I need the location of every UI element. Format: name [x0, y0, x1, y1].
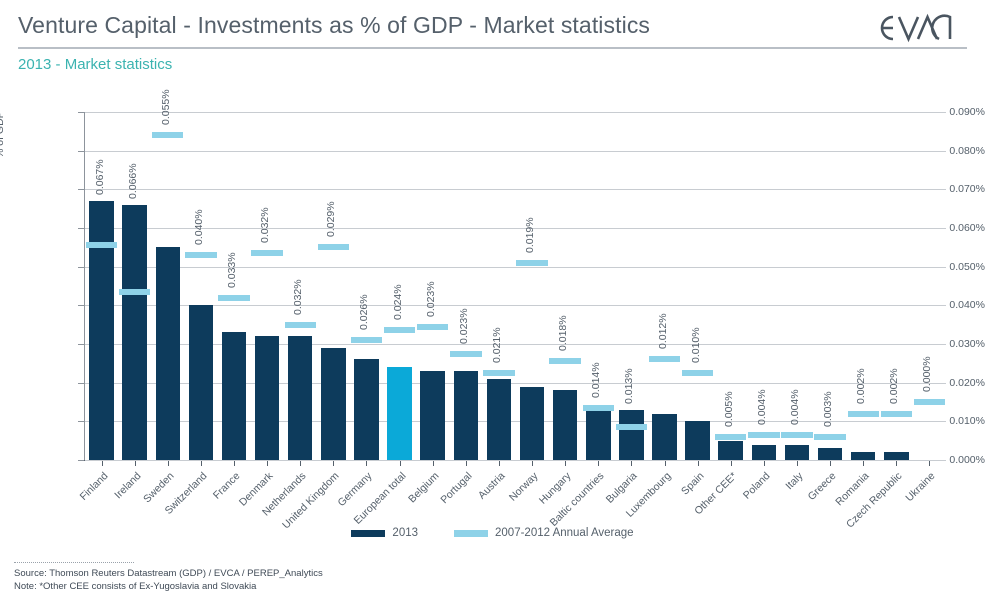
- bar-group[interactable]: 0.004%: [785, 112, 810, 460]
- page-subtitle: 2013 - Market statistics: [18, 56, 172, 73]
- bar-2013[interactable]: [884, 452, 909, 460]
- bar-value-label: 0.000%: [921, 356, 933, 392]
- bar-value-label: 0.010%: [690, 327, 702, 363]
- y-axis-title: % of GDP: [0, 111, 6, 158]
- y-axis-tick-mark: [78, 151, 84, 152]
- bar-2013[interactable]: [354, 359, 379, 460]
- legend-label: 2013: [392, 527, 418, 539]
- average-marker: [881, 411, 912, 417]
- legend-label: 2007-2012 Annual Average: [495, 527, 634, 539]
- average-marker: [549, 358, 580, 364]
- bar-value-label: 0.004%: [789, 389, 801, 425]
- x-axis-tick-mark: [698, 461, 699, 466]
- bar-value-label: 0.012%: [657, 314, 669, 350]
- y-axis-tick-mark: [78, 228, 84, 229]
- x-axis-tick-mark: [466, 461, 467, 466]
- x-axis-tick-mark: [300, 461, 301, 466]
- bar-group[interactable]: 0.023%: [420, 112, 445, 460]
- legend-swatch: [454, 530, 488, 537]
- bar-2013[interactable]: [321, 348, 346, 460]
- bar-2013[interactable]: [586, 406, 611, 460]
- bar-2013[interactable]: [752, 445, 777, 460]
- y-axis-tick-mark: [78, 460, 84, 461]
- bar-value-label: 0.067%: [94, 159, 106, 195]
- bar-value-label: 0.002%: [855, 368, 867, 404]
- x-axis-tick-mark: [896, 461, 897, 466]
- bar-group[interactable]: 0.029%: [321, 112, 346, 460]
- x-axis-tick-mark: [764, 461, 765, 466]
- x-axis-tick-mark: [333, 461, 334, 466]
- bar-value-label: 0.014%: [590, 362, 602, 398]
- x-axis-tick-mark: [400, 461, 401, 466]
- bar-value-label: 0.003%: [822, 391, 834, 427]
- bar-group[interactable]: 0.033%: [222, 112, 247, 460]
- chart-area: % of GDP 0.090%0.080%0.070%0.060%0.050%0…: [0, 90, 985, 556]
- bar-group[interactable]: 0.032%: [288, 112, 313, 460]
- bar-group[interactable]: 0.003%: [818, 112, 843, 460]
- bar-group[interactable]: 0.032%: [255, 112, 280, 460]
- average-marker: [450, 351, 481, 357]
- y-axis-tick-mark: [78, 189, 84, 190]
- bar-value-label: 0.024%: [392, 285, 404, 321]
- x-axis-tick-mark: [201, 461, 202, 466]
- y-axis-tick-mark: [78, 305, 84, 306]
- legend-item[interactable]: 2013: [351, 527, 418, 539]
- bar-2013[interactable]: [122, 205, 147, 460]
- average-marker: [748, 432, 779, 438]
- x-axis-tick-mark: [929, 461, 930, 466]
- bar-value-label: 0.005%: [723, 391, 735, 427]
- bar-2013[interactable]: [553, 390, 578, 460]
- bar-2013[interactable]: [454, 371, 479, 460]
- average-marker: [814, 434, 845, 440]
- x-axis-tick-mark: [532, 461, 533, 466]
- bar-value-label: 0.026%: [358, 295, 370, 331]
- bar-group[interactable]: 0.005%: [718, 112, 743, 460]
- footer: Source: Thomson Reuters Datastream (GDP)…: [14, 562, 614, 593]
- bar-group[interactable]: 0.012%: [652, 112, 677, 460]
- bar-value-label: 0.033%: [226, 252, 238, 288]
- average-marker: [649, 356, 680, 362]
- evca-logo: [873, 10, 965, 46]
- average-marker: [86, 242, 117, 248]
- average-marker: [152, 132, 183, 138]
- footer-note: Note: *Other CEE consists of Ex-Yugoslav…: [14, 580, 614, 593]
- page-title: Venture Capital - Investments as % of GD…: [18, 12, 650, 39]
- legend-item[interactable]: 2007-2012 Annual Average: [454, 527, 634, 539]
- bar-2013[interactable]: [785, 445, 810, 460]
- bar-value-label: 0.002%: [888, 368, 900, 404]
- plot-area: 0.067%0.066%0.055%0.040%0.033%0.032%0.03…: [85, 112, 946, 460]
- bar-group[interactable]: 0.013%: [619, 112, 644, 460]
- bar-group[interactable]: 0.000%: [917, 112, 942, 460]
- bar-value-label: 0.032%: [292, 279, 304, 315]
- bar-2013[interactable]: [189, 305, 214, 460]
- bar-2013[interactable]: [387, 367, 412, 460]
- bar-group[interactable]: 0.004%: [752, 112, 777, 460]
- y-axis-tick-mark: [78, 344, 84, 345]
- bar-value-label: 0.040%: [193, 209, 205, 245]
- x-axis-tick-mark: [731, 461, 732, 466]
- bar-group[interactable]: 0.014%: [586, 112, 611, 460]
- x-axis-tick-mark: [267, 461, 268, 466]
- x-axis-tick-mark: [863, 461, 864, 466]
- bar-2013[interactable]: [652, 414, 677, 460]
- bar-group[interactable]: 0.021%: [487, 112, 512, 460]
- average-marker: [516, 260, 547, 266]
- bar-2013[interactable]: [222, 332, 247, 460]
- average-marker: [384, 327, 415, 333]
- bar-value-label: 0.055%: [160, 90, 172, 126]
- average-marker: [848, 411, 879, 417]
- x-axis-tick-mark: [665, 461, 666, 466]
- bar-group[interactable]: 0.002%: [884, 112, 909, 460]
- bar-2013[interactable]: [619, 410, 644, 460]
- bar-group[interactable]: 0.019%: [520, 112, 545, 460]
- x-axis-tick-mark: [168, 461, 169, 466]
- y-axis-tick-mark: [78, 383, 84, 384]
- average-marker: [251, 250, 282, 256]
- legend-swatch: [351, 530, 385, 537]
- y-axis-tick-mark: [78, 421, 84, 422]
- bar-value-label: 0.021%: [491, 327, 503, 363]
- average-marker: [185, 252, 216, 258]
- x-axis-tick-mark: [102, 461, 103, 466]
- bar-2013[interactable]: [255, 336, 280, 460]
- bar-2013[interactable]: [288, 336, 313, 460]
- x-axis-tick-mark: [631, 461, 632, 466]
- bar-2013[interactable]: [718, 441, 743, 460]
- chart-legend: 20132007-2012 Annual Average: [0, 527, 985, 539]
- x-axis-tick-mark: [135, 461, 136, 466]
- title-row: Venture Capital - Investments as % of GD…: [18, 12, 968, 50]
- x-axis-tick-mark: [499, 461, 500, 466]
- bar-value-label: 0.013%: [623, 368, 635, 404]
- bar-2013[interactable]: [685, 421, 710, 460]
- average-marker: [351, 337, 382, 343]
- bar-2013[interactable]: [818, 448, 843, 460]
- x-axis-tick-mark: [433, 461, 434, 466]
- bar-group[interactable]: 0.024%: [387, 112, 412, 460]
- bar-value-label: 0.023%: [458, 308, 470, 344]
- average-marker: [781, 432, 812, 438]
- average-marker: [318, 244, 349, 250]
- x-axis-tick-mark: [234, 461, 235, 466]
- bar-2013[interactable]: [420, 371, 445, 460]
- footer-divider: [14, 562, 134, 563]
- average-marker: [417, 324, 448, 330]
- y-axis-tick-mark: [78, 267, 84, 268]
- average-marker: [616, 424, 647, 430]
- bar-2013[interactable]: [89, 201, 114, 460]
- average-marker: [119, 289, 150, 295]
- bar-group[interactable]: 0.040%: [189, 112, 214, 460]
- bar-2013[interactable]: [520, 387, 545, 460]
- bar-group[interactable]: 0.055%: [156, 112, 181, 460]
- average-marker: [583, 405, 614, 411]
- bar-group[interactable]: 0.010%: [685, 112, 710, 460]
- bar-value-label: 0.004%: [756, 389, 768, 425]
- x-axis-tick-mark: [797, 461, 798, 466]
- bar-2013[interactable]: [851, 452, 876, 460]
- average-marker: [914, 399, 945, 405]
- bar-group[interactable]: 0.018%: [553, 112, 578, 460]
- average-marker: [285, 322, 316, 328]
- bar-value-label: 0.023%: [425, 281, 437, 317]
- x-axis-tick-mark: [598, 461, 599, 466]
- average-marker: [218, 295, 249, 301]
- x-axis-tick-mark: [565, 461, 566, 466]
- bar-value-label: 0.029%: [325, 202, 337, 238]
- x-axis-tick-mark: [830, 461, 831, 466]
- page-header: Venture Capital - Investments as % of GD…: [0, 0, 985, 88]
- bar-value-label: 0.018%: [557, 316, 569, 352]
- bar-group[interactable]: 0.067%: [89, 112, 114, 460]
- y-axis-tick-mark: [78, 112, 84, 113]
- average-marker: [483, 370, 514, 376]
- bar-group[interactable]: 0.023%: [454, 112, 479, 460]
- bar-2013[interactable]: [156, 247, 181, 460]
- average-marker: [715, 434, 746, 440]
- gridline: [85, 460, 946, 461]
- bar-group[interactable]: 0.026%: [354, 112, 379, 460]
- bar-group[interactable]: 0.066%: [122, 112, 147, 460]
- title-divider: [18, 47, 967, 49]
- x-axis-tick-mark: [366, 461, 367, 466]
- bar-2013[interactable]: [487, 379, 512, 460]
- average-marker: [682, 370, 713, 376]
- bar-group[interactable]: 0.002%: [851, 112, 876, 460]
- bar-value-label: 0.019%: [524, 217, 536, 253]
- bar-value-label: 0.032%: [259, 208, 271, 244]
- footer-source: Source: Thomson Reuters Datastream (GDP)…: [14, 567, 614, 580]
- bar-value-label: 0.066%: [127, 163, 139, 199]
